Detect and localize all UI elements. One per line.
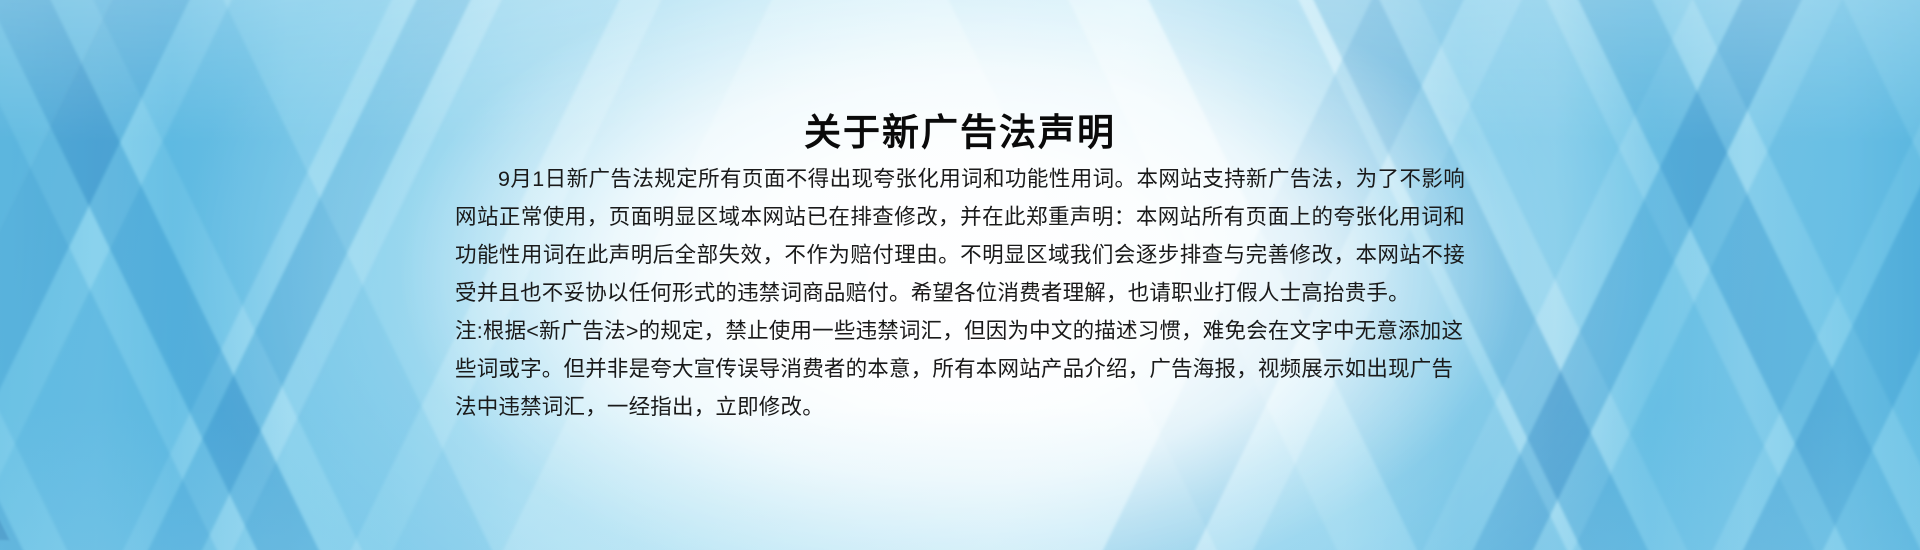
statement-note-paragraph: 注:根据<新广告法>的规定，禁止使用一些违禁词汇，但因为中文的描述习惯，难免会在…	[455, 312, 1465, 426]
ribbon-shape	[1432, 0, 1920, 550]
statement-body: 9月1日新广告法规定所有页面不得出现夸张化用词和功能性用词。本网站支持新广告法，…	[455, 160, 1465, 426]
ribbon-shape	[1567, 0, 1920, 550]
ribbon-shape	[0, 0, 316, 550]
ribbon-shape	[0, 0, 518, 550]
ribbon-shape	[0, 0, 164, 550]
ribbon-shape	[0, 0, 358, 550]
ribbon-shape	[1452, 0, 1920, 550]
page-title: 关于新广告法声明	[455, 111, 1465, 155]
advertising-law-statement-banner: 关于新广告法声明 9月1日新广告法规定所有页面不得出现夸张化用词和功能性用词。本…	[0, 0, 1920, 550]
statement-paragraph: 9月1日新广告法规定所有页面不得出现夸张化用词和功能性用词。本网站支持新广告法，…	[455, 160, 1465, 312]
ribbon-accent-deep	[0, 330, 9, 540]
ribbon-shape	[0, 0, 460, 550]
statement-content: 关于新广告法声明 9月1日新广告法规定所有页面不得出现夸张化用词和功能性用词。本…	[455, 0, 1465, 550]
ribbon-shape	[1602, 0, 1920, 550]
ribbon-shape	[0, 0, 238, 550]
